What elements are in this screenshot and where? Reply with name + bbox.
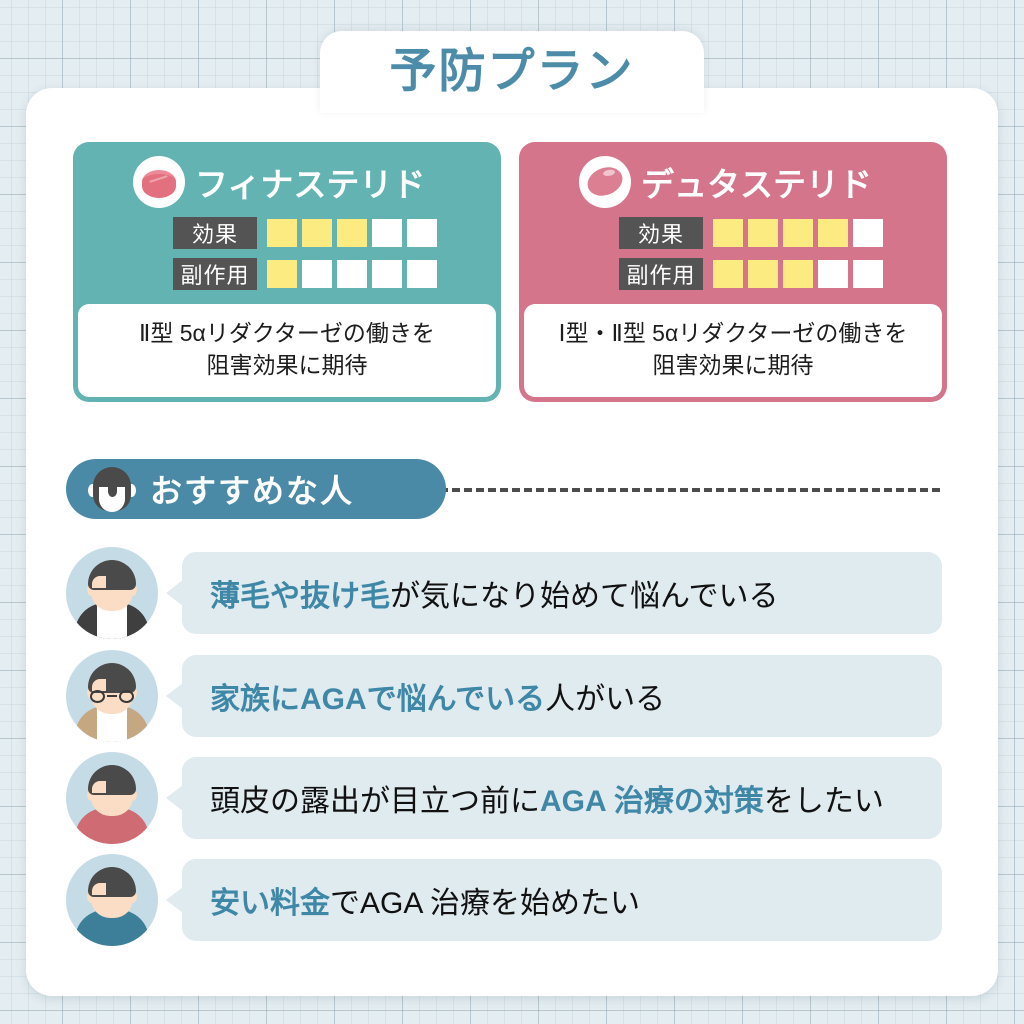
recommend-text-post: でAGA 治療を始めたい bbox=[330, 887, 640, 920]
drug-description-line1: Ⅰ型・Ⅱ型 5αリダクターゼの働きを bbox=[532, 318, 934, 350]
drug-description: Ⅱ型 5αリダクターゼの働きを 阻害効果に期待 bbox=[78, 304, 496, 397]
meter-row-efficacy: 効果 bbox=[619, 217, 947, 249]
drug-name-label: デュタステリド bbox=[641, 158, 872, 206]
meter-squares-side-effect bbox=[713, 260, 888, 288]
recommend-text-highlight: 安い料金 bbox=[210, 887, 330, 920]
list-item: 家族にAGAで悩んでいる人がいる bbox=[66, 648, 942, 744]
meter-squares-efficacy bbox=[713, 219, 888, 247]
recommend-bubble: 薄毛や抜け毛が気になり始めて悩んでいる bbox=[182, 552, 942, 634]
drug-description-line1: Ⅱ型 5αリダクターゼの働きを bbox=[86, 318, 488, 350]
drug-card-dutasteride: デュタステリド 効果 副作用 Ⅰ型・Ⅱ型 5αリダクターゼの働きを 阻害効果に期… bbox=[519, 142, 947, 402]
drug-card-header: フィナステリド 効果 副作用 bbox=[73, 142, 501, 304]
dashed-divider bbox=[440, 488, 940, 492]
drug-description-line2: 阻害効果に期待 bbox=[86, 350, 488, 382]
recommend-text: 家族にAGAで悩んでいる人がいる bbox=[210, 674, 665, 718]
soft-capsule-icon bbox=[579, 156, 631, 208]
meter-squares-efficacy bbox=[267, 219, 442, 247]
drug-name-label: フィナステリド bbox=[195, 158, 425, 206]
meter-label-side-effect: 副作用 bbox=[619, 258, 703, 290]
person-jacket-avatar bbox=[66, 547, 158, 639]
person-glasses-avatar bbox=[66, 650, 158, 742]
meter-row-efficacy: 効果 bbox=[173, 217, 501, 249]
recommend-text-highlight: AGA 治療の対策 bbox=[540, 785, 764, 818]
list-item: 薄毛や抜け毛が気になり始めて悩んでいる bbox=[66, 545, 942, 641]
drug-description: Ⅰ型・Ⅱ型 5αリダクターゼの働きを 阻害効果に期待 bbox=[524, 304, 942, 397]
meter-label-side-effect: 副作用 bbox=[173, 258, 257, 290]
drug-title-row: フィナステリド bbox=[73, 142, 501, 208]
recommend-text-post: 人がいる bbox=[545, 683, 665, 716]
drug-title-row: デュタステリド bbox=[519, 142, 947, 208]
person-teal-shirt-avatar bbox=[66, 854, 158, 946]
meter-row-side-effect: 副作用 bbox=[173, 258, 501, 290]
list-item: 安い料金でAGA 治療を始めたい bbox=[66, 852, 942, 948]
recommend-badge: おすすめな人 bbox=[66, 459, 446, 519]
recommend-text: 安い料金でAGA 治療を始めたい bbox=[210, 878, 640, 922]
list-item: 頭皮の露出が目立つ前にAGA 治療の対策をしたい bbox=[66, 750, 942, 846]
meter-label-efficacy: 効果 bbox=[619, 217, 703, 249]
meter-squares-side-effect bbox=[267, 260, 442, 288]
drug-description-line2: 阻害効果に期待 bbox=[532, 350, 934, 382]
recommend-text-highlight: 家族にAGAで悩んでいる bbox=[210, 683, 545, 716]
recommend-bubble: 頭皮の露出が目立つ前にAGA 治療の対策をしたい bbox=[182, 757, 942, 839]
recommend-text-highlight: 薄毛や抜け毛 bbox=[210, 580, 390, 613]
recommend-badge-label: おすすめな人 bbox=[150, 466, 354, 512]
recommend-text: 薄毛や抜け毛が気になり始めて悩んでいる bbox=[210, 571, 779, 615]
round-tablet-icon bbox=[133, 156, 185, 208]
drug-card-header: デュタステリド 効果 副作用 bbox=[519, 142, 947, 304]
meter-label-efficacy: 効果 bbox=[173, 217, 257, 249]
person-red-shirt-avatar bbox=[66, 752, 158, 844]
recommend-text: 頭皮の露出が目立つ前にAGA 治療の対策をしたい bbox=[210, 776, 884, 820]
title-tab: 予防プラン bbox=[320, 31, 704, 113]
glasses-icon bbox=[89, 690, 135, 704]
recommend-text-post: が気になり始めて悩んでいる bbox=[390, 580, 779, 613]
page-title: 予防プラン bbox=[390, 47, 635, 98]
recommend-bubble: 家族にAGAで悩んでいる人がいる bbox=[182, 655, 942, 737]
meter-row-side-effect: 副作用 bbox=[619, 258, 947, 290]
head-silhouette-icon bbox=[88, 465, 136, 513]
recommend-text-post: をしたい bbox=[764, 785, 884, 818]
recommend-text-pre: 頭皮の露出が目立つ前に bbox=[210, 785, 540, 818]
recommend-bubble: 安い料金でAGA 治療を始めたい bbox=[182, 859, 942, 941]
drug-card-finasteride: フィナステリド 効果 副作用 Ⅱ型 5αリダクターゼの働きを 阻害効果に期待 bbox=[73, 142, 501, 402]
